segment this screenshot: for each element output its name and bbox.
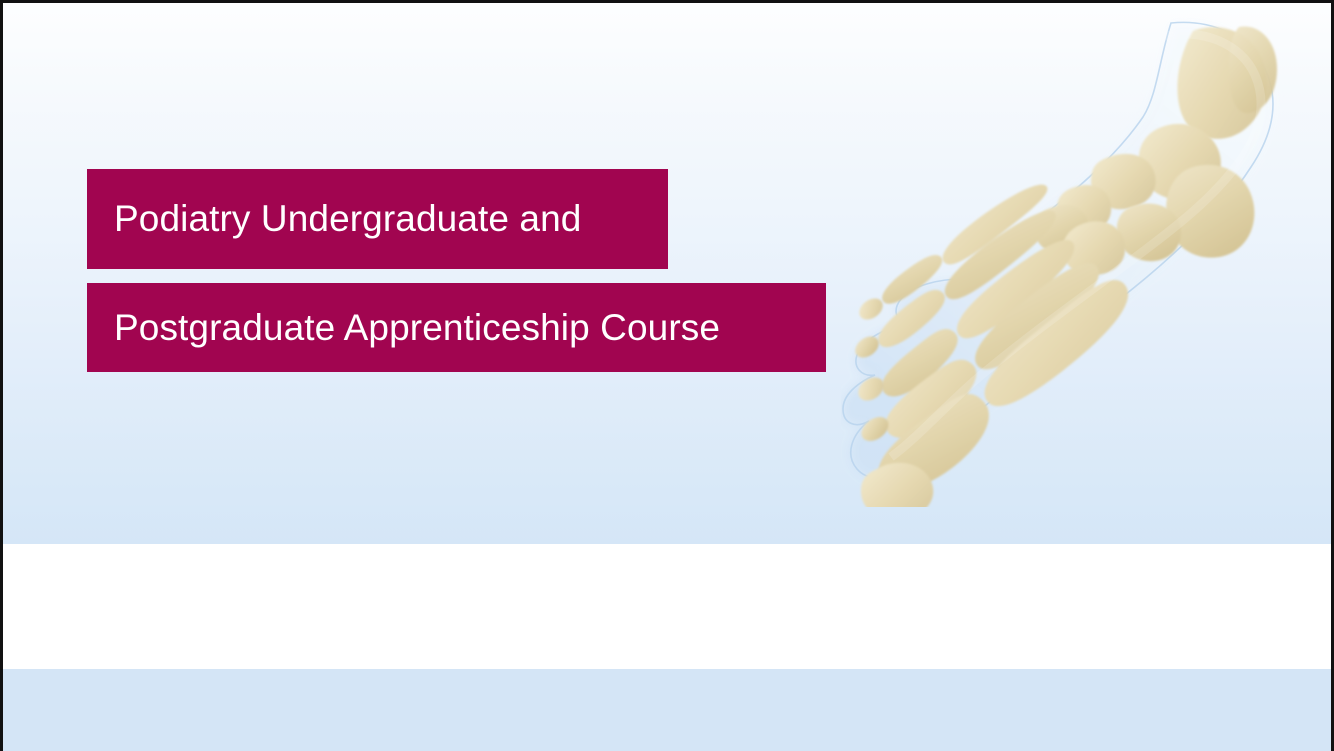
title-bar-line-1: Podiatry Undergraduate and [87, 169, 668, 269]
foot-skeleton-image [841, 17, 1311, 507]
page-title-line-2: Postgraduate Apprenticeship Course [114, 307, 720, 349]
background-footer-band [3, 669, 1331, 751]
title-bar-line-2: Postgraduate Apprenticeship Course [87, 283, 826, 372]
page-title-line-1: Podiatry Undergraduate and [114, 198, 581, 240]
partner-logo-strip: UNIVERSITY OF PLYMOUTH NHS Health Educat… [3, 544, 1331, 669]
slide-canvas: Podiatry Undergraduate and Postgraduate … [0, 0, 1334, 751]
